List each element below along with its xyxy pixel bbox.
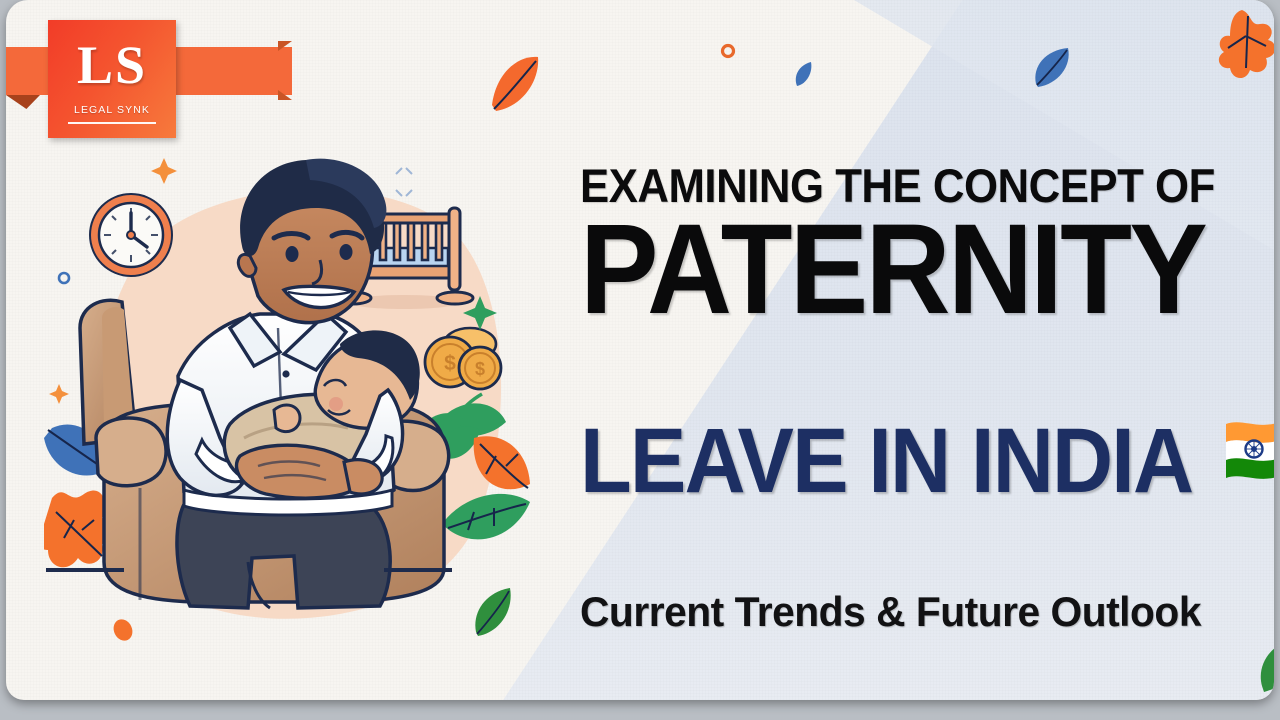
screenshot-root: LS LEGAL SYNK EXAMINING THE CONCEPT OF P… <box>0 0 1280 720</box>
brand-logo-underline <box>68 122 156 124</box>
india-flag-icon <box>1224 418 1274 480</box>
orange-leaf-top-left-icon <box>492 57 538 111</box>
headline-line-1: PATERNITY <box>580 206 1205 334</box>
brand-logo[interactable]: LS LEGAL SYNK <box>48 20 176 138</box>
brand-logo-mark: LS <box>77 38 147 92</box>
svg-text:$: $ <box>475 359 485 379</box>
headline-line-2: LEAVE IN INDIA <box>580 415 1192 507</box>
wall-clock-icon <box>89 193 173 277</box>
svg-text:$: $ <box>444 352 456 375</box>
blue-petal-icon <box>796 62 812 86</box>
brand-logo-name: LEGAL SYNK <box>74 104 150 116</box>
headline-subtitle: Current Trends & Future Outlook <box>580 588 1201 636</box>
green-leaf-bottom-right-icon <box>1261 638 1274 692</box>
blue-leaf-top-right-icon <box>1035 48 1068 87</box>
orange-ring-icon <box>723 46 734 57</box>
orange-oak-leaf-corner-icon <box>1219 10 1274 78</box>
thumbnail-card: LS LEGAL SYNK EXAMINING THE CONCEPT OF P… <box>6 0 1274 700</box>
paternity-illustration: $ $ <box>44 138 564 658</box>
